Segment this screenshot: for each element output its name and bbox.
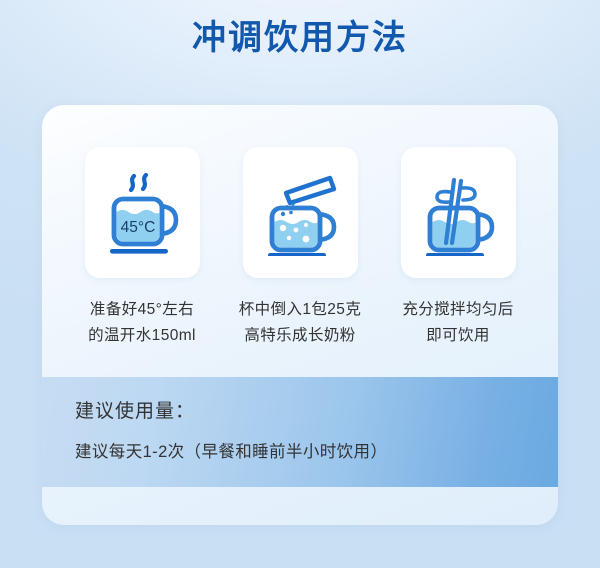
pour-sachet-mug-icon <box>258 170 342 256</box>
step-caption-2-line-2: 高特乐成长奶粉 <box>233 323 368 349</box>
step-caption-1-line-1: 准备好45°左右 <box>75 297 210 323</box>
step-caption-2: 杯中倒入1包25克 高特乐成长奶粉 <box>233 297 368 349</box>
step-caption-1: 准备好45°左右 的温开水150ml <box>75 297 210 349</box>
step-caption-row: 准备好45°左右 的温开水150ml 杯中倒入1包25克 高特乐成长奶粉 充分搅… <box>42 297 558 349</box>
step-caption-3-line-1: 充分搅拌均匀后 <box>391 297 526 323</box>
step-caption-3: 充分搅拌均匀后 即可饮用 <box>391 297 526 349</box>
step-tile-3 <box>401 147 516 278</box>
dosage-heading: 建议使用量： <box>75 396 195 423</box>
step-tile-1: 45°C <box>85 147 200 278</box>
page-title-container: 冲调饮用方法 <box>0 18 600 59</box>
step-caption-3-line-2: 即可饮用 <box>391 323 526 349</box>
step-caption-1-line-2: 的温开水150ml <box>75 323 210 349</box>
step-caption-2-line-1: 杯中倒入1包25克 <box>233 297 368 323</box>
instructions-card: 45°C <box>42 105 558 525</box>
step-icon-row: 45°C <box>42 147 558 278</box>
dosage-text: 建议每天1-2次（早餐和睡前半小时饮用） <box>75 438 387 462</box>
promo-panel: 冲调饮用方法 <box>0 0 600 568</box>
page-title: 冲调饮用方法 <box>192 18 408 59</box>
dosage-band: 建议使用量： 建议每天1-2次（早餐和睡前半小时饮用） <box>42 377 558 487</box>
stir-mug-icon <box>416 170 500 256</box>
mug-temperature-label: 45°C <box>121 219 156 236</box>
hot-water-mug-icon: 45°C <box>100 170 184 256</box>
step-tile-2 <box>243 147 358 278</box>
